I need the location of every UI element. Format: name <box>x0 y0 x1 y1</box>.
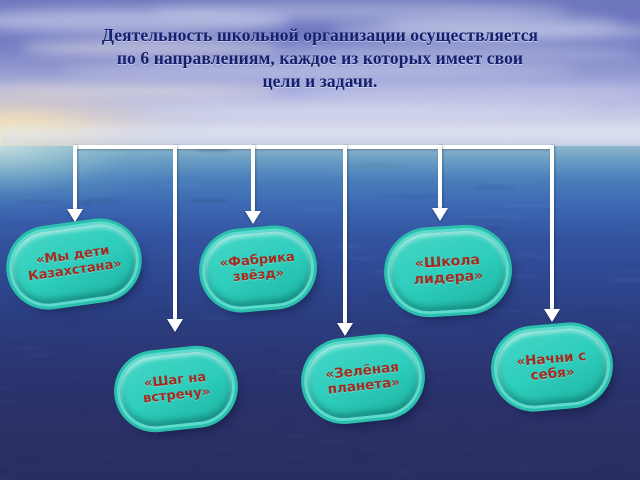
direction-node-label-4: «Шаг навстречу» <box>135 370 217 408</box>
direction-node-label-2: «Фабриказвёзд» <box>213 250 302 287</box>
connector-arrowhead-6 <box>544 309 560 322</box>
connector-arrowhead-1 <box>67 209 83 222</box>
page-title: Деятельность школьной организации осущес… <box>0 24 640 93</box>
node-label-line-2: себя» <box>530 364 575 384</box>
node-label-line-2: звёзд» <box>232 266 284 285</box>
connector-branch-line-4 <box>343 145 347 323</box>
title-line-3: цели и задачи. <box>0 70 640 93</box>
connector-branch-line-3 <box>251 145 255 211</box>
title-line-2: по 6 направлениям, каждое из которых име… <box>0 47 640 70</box>
connector-branch-line-2 <box>173 145 177 319</box>
connector-branch-line-5 <box>438 145 442 208</box>
connector-branch-line-6 <box>550 145 554 309</box>
connector-arrowhead-3 <box>245 211 261 224</box>
direction-node-label-1: «Мы детиКазахстана» <box>19 242 128 286</box>
connector-horizontal-bar <box>75 145 554 149</box>
connector-arrowhead-4 <box>337 323 353 336</box>
title-line-1: Деятельность школьной организации осущес… <box>0 24 640 47</box>
connector-arrowhead-5 <box>432 208 448 221</box>
node-label-line-2: лидера» <box>413 268 483 288</box>
direction-node-label-6: «Начни ссебя» <box>510 348 594 386</box>
direction-node-3[interactable]: «Школалидера» <box>388 229 509 314</box>
connector-arrowhead-2 <box>167 319 183 332</box>
slide-canvas: Деятельность школьной организации осущес… <box>0 0 640 480</box>
direction-node-label-5: «Зелёнаяпланета» <box>319 359 407 399</box>
connector-branch-line-1 <box>73 145 77 209</box>
direction-node-label-3: «Школалидера» <box>406 253 489 290</box>
